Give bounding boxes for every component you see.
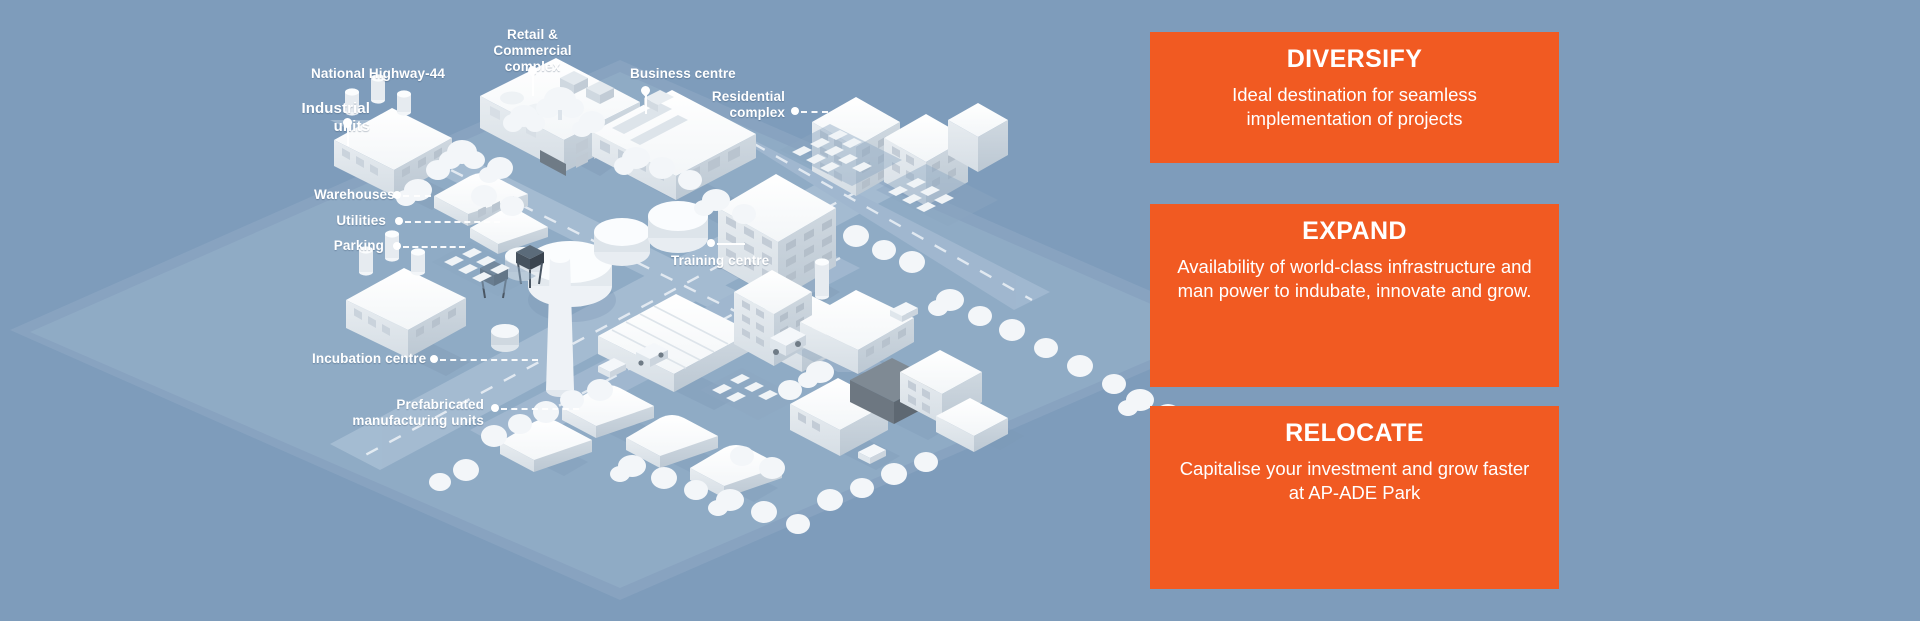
infographic-stage: National Highway-44 Retail & Commercial … [0,0,1920,621]
map-label-business-centre: Business centre [630,66,736,82]
label-line-1: Industrial [301,100,370,117]
map-dot-prefabricated-units [491,404,499,412]
map-label-parking: Parking [330,238,384,254]
map-label-utilities: Utilities [330,213,386,229]
isometric-city-illustration [0,0,1240,621]
map-label-warehouses: Warehouses [314,187,386,203]
map-dot-warehouses [393,191,401,199]
benefit-card-expand[interactable]: EXPAND Availability of world-class infra… [1150,204,1559,387]
map-label-industrial-units: Industrial units [300,100,370,135]
background-filler-right [1560,0,1920,621]
map-leader-training-centre [717,243,745,245]
label-line-2: complex [730,105,785,120]
map-label-national-highway: National Highway-44 [311,66,445,82]
isometric-map-svg [0,0,1240,621]
map-leader-retail-commercial [532,72,534,96]
map-leader-utilities [405,221,500,223]
benefit-card-body: Capitalise your investment and grow fast… [1176,457,1533,506]
map-leader-parking [403,246,465,248]
label-line-1: Prefabricated [396,397,484,412]
benefit-card-body: Ideal destination for seamless implement… [1176,83,1533,132]
map-dot-parking [393,242,401,250]
map-label-incubation-centre: Incubation centre [312,351,422,367]
smokestack [546,253,574,397]
map-leader-prefabricated-units [501,408,579,410]
benefit-card-title: DIVERSIFY [1176,46,1533,74]
benefit-card-body: Availability of world-class infrastructu… [1176,255,1533,304]
benefit-card-diversify[interactable]: DIVERSIFY Ideal destination for seamless… [1150,32,1559,163]
map-dot-training-centre [707,239,715,247]
map-leader-business-centre [645,92,647,114]
map-label-residential-complex: Residential complex [705,89,785,121]
map-leader-industrial-units [347,124,349,146]
map-label-training-centre: Training centre [671,253,769,269]
label-line-1: Residential [712,89,785,104]
benefit-card-title: EXPAND [1176,218,1533,246]
map-leader-incubation-centre [440,359,538,361]
map-leader-warehouses [403,195,431,197]
benefit-card-title: RELOCATE [1176,420,1533,448]
map-dot-residential-complex [791,107,799,115]
map-dot-incubation-centre [430,355,438,363]
label-line-1: Retail & [507,27,558,42]
label-line-2: manufacturing units [352,413,484,428]
benefit-card-relocate[interactable]: RELOCATE Capitalise your investment and … [1150,406,1559,589]
label-line-2: Commercial [493,43,571,58]
map-leader-residential-complex [801,111,828,113]
map-label-prefabricated-units: Prefabricated manufacturing units [352,397,484,429]
map-dot-utilities [395,217,403,225]
